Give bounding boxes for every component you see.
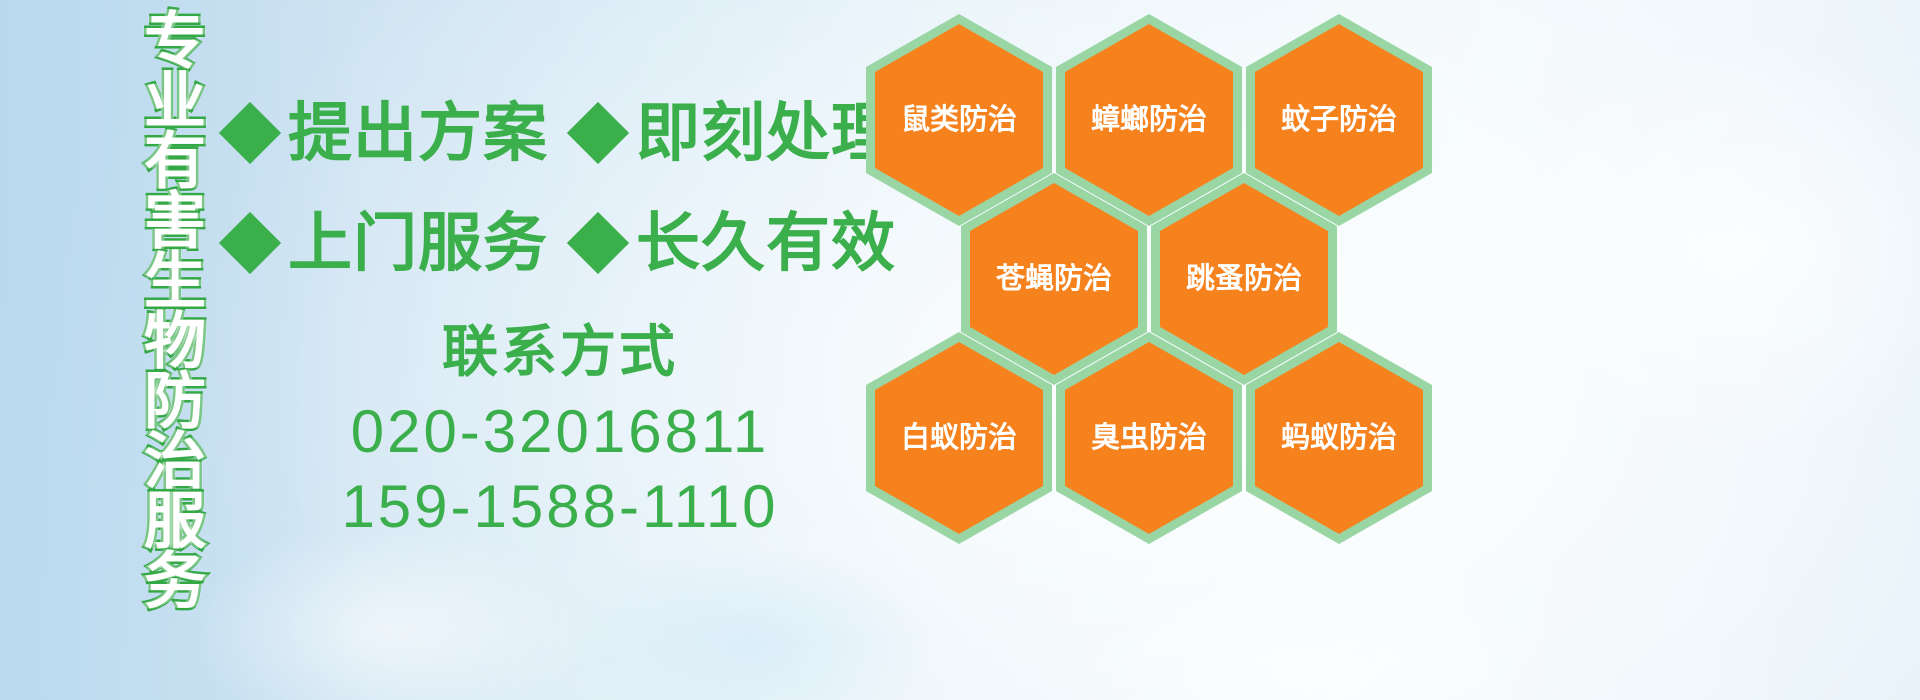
background-blob-a xyxy=(180,520,600,700)
background-glow-right xyxy=(1480,40,1920,460)
hex-inner: 臭虫防治 xyxy=(1065,342,1233,534)
hex-inner: 蚂蚁防治 xyxy=(1255,342,1423,534)
diamond-bullet-icon xyxy=(567,212,629,274)
contact-block: 联系方式 020-32016811 159-1588-1110 xyxy=(300,320,820,544)
service-hexagon-grid: 鼠类防治 蟑螂防治 蚊子防治 苍蝇防治 跳蚤防治 白蚁防治 xyxy=(866,0,1446,560)
feature-label: 上门服务 xyxy=(288,211,548,275)
feature-item-propose-plan: 提出方案 xyxy=(228,101,548,165)
hex-label: 蟑螂防治 xyxy=(1091,106,1207,135)
hex-label: 鼠类防治 xyxy=(901,106,1017,135)
diamond-bullet-icon xyxy=(219,212,281,274)
hex-label: 跳蚤防治 xyxy=(1186,265,1302,294)
feature-label: 即刻处理 xyxy=(636,101,896,165)
feature-label: 提出方案 xyxy=(288,101,548,165)
contact-heading: 联系方式 xyxy=(300,320,820,384)
hex-inner: 蟑螂防治 xyxy=(1065,24,1233,216)
background-blob-b xyxy=(560,545,940,700)
diamond-bullet-icon xyxy=(567,102,629,164)
contact-phone-mobile[interactable]: 159-1588-1110 xyxy=(300,469,820,544)
hex-label: 白蚁防治 xyxy=(901,424,1017,453)
hex-inner: 白蚁防治 xyxy=(875,342,1043,534)
hex-label: 苍蝇防治 xyxy=(996,265,1112,294)
hex-label: 臭虫防治 xyxy=(1091,424,1207,453)
feature-item-onsite-service: 上门服务 xyxy=(228,211,548,275)
background-blob-c xyxy=(1050,560,1570,700)
feature-item-immediate-handling: 即刻处理 xyxy=(576,101,896,165)
hex-label: 蚂蚁防治 xyxy=(1281,424,1397,453)
hex-label: 蚊子防治 xyxy=(1281,106,1397,135)
vertical-headline: 专业有害生物防治服务 xyxy=(104,8,200,698)
feature-label: 长久有效 xyxy=(636,211,896,275)
hex-inner: 跳蚤防治 xyxy=(1160,183,1328,375)
pest-control-banner: 专业有害生物防治服务 提出方案 即刻处理 上门服务 长久有效 联 xyxy=(0,0,1920,700)
feature-item-long-lasting: 长久有效 xyxy=(576,211,896,275)
hex-inner: 苍蝇防治 xyxy=(970,183,1138,375)
hex-inner: 蚊子防治 xyxy=(1255,24,1423,216)
contact-phone-landline[interactable]: 020-32016811 xyxy=(300,394,820,469)
hex-inner: 鼠类防治 xyxy=(875,24,1043,216)
diamond-bullet-icon xyxy=(219,102,281,164)
